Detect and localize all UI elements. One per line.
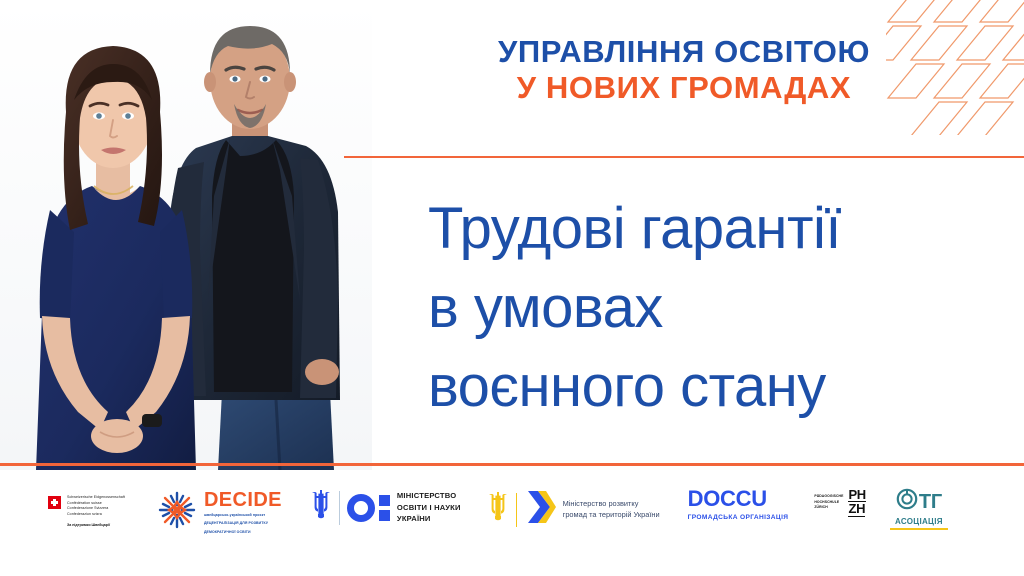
minregion-line-1: Міністерство розвитку — [563, 499, 660, 510]
otg-underline — [890, 528, 948, 530]
doccu-sub: ГРОМАДСЬКА ОРГАНІЗАЦІЯ — [688, 514, 789, 521]
swiss-flag-icon — [48, 496, 61, 509]
decide-sub-1: швейцарсько-український проєкт — [204, 513, 282, 518]
mon-square-bottom — [379, 510, 390, 521]
swiss-line-4: Confederaziun svizra — [67, 512, 125, 518]
phzh-de-line-3: ZÜRICH — [814, 505, 843, 510]
kicker-line-2: У НОВИХ ГРОМАДАХ — [424, 70, 944, 106]
divider-mon — [339, 491, 340, 525]
page-title: Трудові гарантії в умовах воєнного стану — [428, 190, 1018, 427]
logo-decide: DECIDE швейцарсько-український проєкт ДЕ… — [155, 488, 282, 537]
kicker-line-1: УПРАВЛІННЯ ОСВІТОЮ — [424, 34, 944, 70]
logo-swiss-confederation: Schweizerische Eidgenossenschaft Confédé… — [48, 488, 125, 527]
headline-line-3: воєнного стану — [428, 348, 1018, 427]
mon-square-top — [379, 495, 390, 506]
decide-wordmark: DECIDE — [204, 490, 282, 510]
phzh-line-zh: ZH — [848, 502, 865, 516]
kicker-title: УПРАВЛІННЯ ОСВІТОЮ У НОВИХ ГРОМАДАХ — [424, 34, 944, 106]
mon-line-2: ОСВІТИ І НАУКИ — [397, 502, 461, 513]
swiss-support-text: За підтримки Швейцарії — [67, 523, 125, 527]
logo-otg-association: ТГ АСОЦІАЦІЯ — [890, 488, 948, 530]
swiss-line-1: Schweizerische Eidgenossenschaft — [67, 495, 125, 501]
decide-snowflake-icon — [155, 488, 199, 537]
ukraine-trident-yellow-icon — [487, 490, 509, 529]
logo-minregion: Міністерство розвитку громад та територі… — [487, 488, 660, 531]
mon-line-1: МІНІСТЕРСТВО — [397, 490, 461, 501]
mon-emblem-icon — [347, 494, 390, 522]
otg-o-ring-icon — [896, 488, 918, 515]
decide-sub-3: ДЕМОКРАТИЧНОЇ ОСВІТИ — [204, 530, 282, 535]
decide-sub-2: ДЕЦЕНТРАЛІЗАЦІЯ ДЛЯ РОЗВИТКУ — [204, 521, 282, 526]
mon-ring-shape — [347, 494, 375, 522]
doccu-wordmark: DOCCU — [688, 488, 767, 510]
headline-line-1: Трудові гарантії — [428, 190, 1018, 269]
phzh-wordmark: PH ZH — [848, 488, 865, 517]
divider-top — [344, 156, 1024, 158]
footer-logo-bar: Schweizerische Eidgenossenschaft Confédé… — [0, 478, 1024, 576]
minregion-chevron-icon — [524, 488, 556, 531]
minregion-line-2: громад та територій України — [563, 510, 660, 521]
divider-minregion — [516, 493, 517, 527]
phzh-de-line-1: PÄDAGOGISCHE — [814, 494, 843, 499]
logo-ministry-education: МІНІСТЕРСТВО ОСВІТИ І НАУКИ УКРАЇНИ — [310, 488, 461, 527]
mon-line-3: УКРАЇНИ — [397, 513, 461, 524]
divider-bottom — [0, 463, 1024, 466]
otg-sub: АСОЦІАЦІЯ — [895, 517, 943, 526]
phzh-line-ph: PH — [848, 488, 865, 502]
headline-line-2: в умовах — [428, 269, 1018, 348]
presentation-slide: УПРАВЛІННЯ ОСВІТОЮ У НОВИХ ГРОМАДАХ Труд… — [0, 0, 1024, 576]
otg-wordmark: ТГ — [919, 492, 942, 512]
presenters-photo — [0, 0, 372, 470]
logo-doccu: DOCCU ГРОМАДСЬКА ОРГАНІЗАЦІЯ — [688, 488, 789, 521]
ukraine-trident-icon — [310, 488, 332, 527]
logo-phzh: PÄDAGOGISCHE HOCHSCHULE ZÜRICH PH ZH — [814, 488, 866, 517]
